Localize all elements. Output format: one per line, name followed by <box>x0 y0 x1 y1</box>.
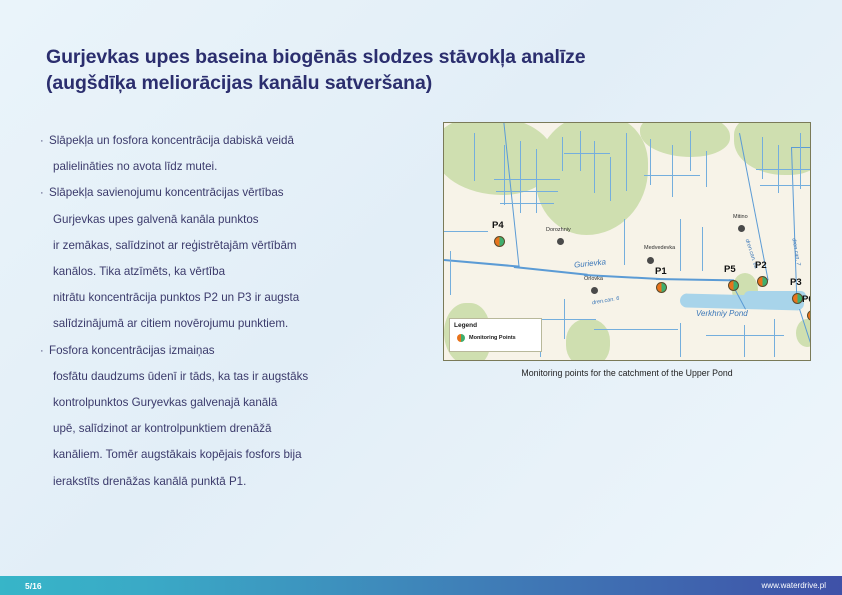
drainage-line <box>690 131 691 171</box>
map-image[interactable]: Dorozhniy Medvedevka Orlovka Mitino Guri… <box>443 122 811 361</box>
list-item-text: fosfātu daudzums ūdenī ir tāds, ka tas i… <box>40 364 430 390</box>
drainage-line <box>504 145 505 205</box>
drainage-line <box>680 323 681 357</box>
bullet-list: ·Slāpekļa un fosfora koncentrācija dabis… <box>40 128 430 495</box>
town-label: Orlovka <box>584 276 603 282</box>
page-title-line2: (augšdīķa meliorācijas kanālu satveršana… <box>46 70 706 96</box>
list-item: ·Slāpekļa savienojumu koncentrācijas vēr… <box>40 180 430 206</box>
forest-area <box>640 122 730 157</box>
bullet-marker: · <box>40 128 49 154</box>
town-marker <box>557 238 564 245</box>
drainage-canal <box>792 147 811 148</box>
list-item-text: kanālos. Tika atzīmēts, ka vērtība <box>40 259 430 285</box>
list-item-text: Fosfora koncentrācijas izmaiņas <box>49 344 215 357</box>
list-item-text: nitrātu koncentrācija punktos P2 un P3 i… <box>40 285 430 311</box>
drainage-line <box>756 169 810 170</box>
canal-label-6: dren.can. 6 <box>592 296 620 307</box>
monitoring-point-p5[interactable] <box>728 280 739 291</box>
drainage-line <box>650 139 651 185</box>
drainage-line <box>562 137 563 171</box>
monitoring-point-label: P3 <box>790 277 802 288</box>
figure-caption: Monitoring points for the catchment of t… <box>443 368 811 378</box>
drainage-line <box>626 133 627 191</box>
river-label-gurievka: Gurievka <box>574 257 607 269</box>
monitoring-point-p1[interactable] <box>656 282 667 293</box>
list-item-text: upē, salīdzinot ar kontrolpunktiem drenā… <box>40 416 430 442</box>
drainage-line <box>644 175 700 176</box>
drainage-line <box>610 157 611 201</box>
monitoring-point-label: P4 <box>492 220 504 231</box>
list-item-text: kanāliem. Tomēr augstākais kopējais fosf… <box>40 442 430 468</box>
river-gurievka <box>656 278 734 281</box>
town-label: Dorozhniy <box>546 227 571 233</box>
monitoring-point-icon <box>457 334 465 342</box>
drainage-line <box>564 153 610 154</box>
river-gurievka <box>444 259 520 267</box>
list-item-text: palielināties no avota līdz mutei. <box>40 154 430 180</box>
drainage-line <box>594 329 678 330</box>
list-item: ·Fosfora koncentrācijas izmaiņas <box>40 338 430 364</box>
drainage-line <box>744 325 745 357</box>
list-item-text: Slāpekļa un fosfora koncentrācija dabisk… <box>49 134 294 147</box>
monitoring-point-p4[interactable] <box>494 236 505 247</box>
drainage-line <box>496 191 558 192</box>
town-marker <box>738 225 745 232</box>
page-title-line1: Gurjevkas upes baseina biogēnās slodzes … <box>46 46 586 68</box>
page-title: Gurjevkas upes baseina biogēnās slodzes … <box>46 44 706 96</box>
pond-label-verkhniy: Verkhniy Pond <box>696 309 748 318</box>
drainage-line <box>762 137 763 179</box>
legend-title: Legend <box>454 322 537 329</box>
monitoring-point-label: P1 <box>655 266 667 277</box>
town-marker <box>591 287 598 294</box>
drainage-line <box>760 185 810 186</box>
monitoring-point-p2[interactable] <box>757 276 768 287</box>
list-item-text: salīdzinājumā ar citiem novērojumu punkt… <box>40 311 430 337</box>
list-item-text: Slāpekļa savienojumu koncentrācijas vērt… <box>49 186 284 199</box>
footer-url[interactable]: www.waterdrive.pl <box>762 581 826 590</box>
drainage-line <box>594 141 595 193</box>
monitoring-point-label: P6 <box>802 294 811 305</box>
drainage-line <box>774 319 775 357</box>
forest-area <box>566 319 610 361</box>
bullet-marker: · <box>40 338 49 364</box>
list-item-text: kontrolpunktos Guryevkas galvenajā kanāl… <box>40 390 430 416</box>
drainage-line <box>706 151 707 187</box>
drainage-line <box>444 231 488 232</box>
list-item-text: Gurjevkas upes galvenā kanāla punktos <box>40 207 430 233</box>
list-item-text: ierakstīts drenāžas kanālā punktā P1. <box>40 469 430 495</box>
drainage-line <box>624 219 625 265</box>
legend-entry: Monitoring Points <box>457 334 537 342</box>
drainage-line <box>450 251 451 295</box>
monitoring-point-label: P5 <box>724 264 736 275</box>
canal-label-7: dren.can. 7 <box>790 238 801 266</box>
town-label: Medvedevka <box>644 245 675 251</box>
drainage-line <box>474 133 475 181</box>
town-label: Mitino <box>733 214 748 220</box>
legend-entry-label: Monitoring Points <box>469 335 516 341</box>
list-item: ·Slāpekļa un fosfora koncentrācija dabis… <box>40 128 430 154</box>
drainage-line <box>680 219 681 271</box>
page-number: 5/16 <box>25 581 42 591</box>
monitoring-point-label: P2 <box>755 260 767 271</box>
map-legend: Legend Monitoring Points <box>449 318 542 352</box>
monitoring-point-p6[interactable] <box>807 310 811 321</box>
drainage-line <box>494 179 560 180</box>
drainage-line <box>500 203 554 204</box>
drainage-line <box>672 145 673 197</box>
list-item-text: ir zemākas, salīdzinot ar reģistrētajām … <box>40 233 430 259</box>
drainage-line <box>706 335 784 336</box>
drainage-line <box>800 133 801 189</box>
drainage-line <box>580 131 581 171</box>
town-marker <box>647 257 654 264</box>
map-figure: Dorozhniy Medvedevka Orlovka Mitino Guri… <box>443 122 811 361</box>
bullet-marker: · <box>40 180 49 206</box>
footer-bar: 5/16 www.waterdrive.pl <box>0 576 842 595</box>
drainage-line <box>702 227 703 271</box>
